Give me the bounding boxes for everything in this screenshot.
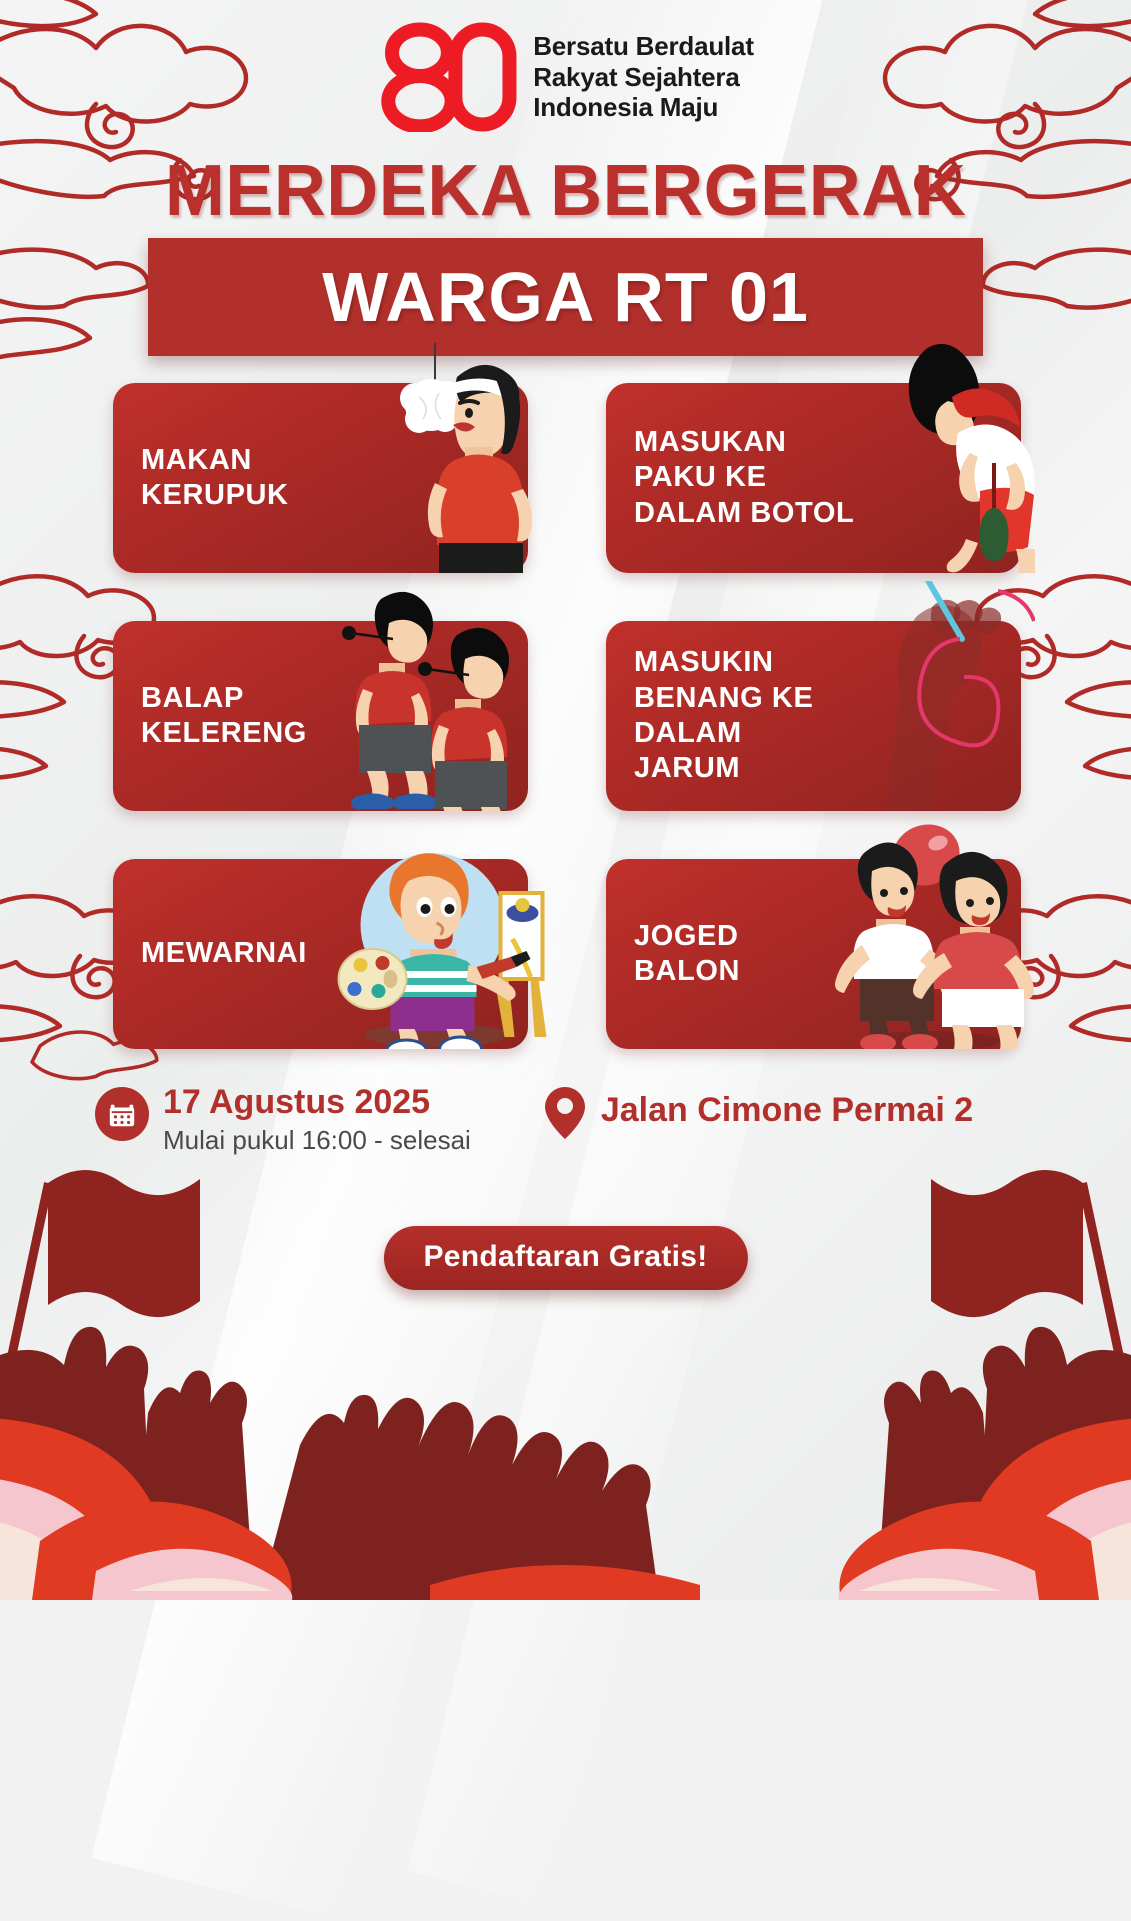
- hand-threading-needle-icon: [820, 581, 1035, 811]
- anniversary-logo-block: Bersatu Berdaulat Rakyat Sejahtera Indon…: [0, 22, 1131, 132]
- activity-card-balap-kelereng[interactable]: BALAP KELERENG: [113, 621, 528, 811]
- headline-banner: WARGA RT 01: [148, 238, 983, 356]
- event-location: Jalan Cimone Permai 2: [601, 1093, 973, 1129]
- activity-label-line: JOGED: [634, 919, 740, 954]
- two-kids-balloon-dance-icon: [820, 819, 1035, 1049]
- activity-label-line: MASUKAN: [634, 425, 854, 460]
- event-date: 17 Agustus 2025: [163, 1085, 471, 1121]
- activity-label: MEWARNAI: [113, 936, 307, 971]
- headline-primary: MERDEKA BERGERAK: [0, 150, 1131, 232]
- activity-label: JOGED BALON: [606, 919, 740, 990]
- activity-label-line: MAKAN: [141, 443, 289, 478]
- activity-label-line: PAKU KE: [634, 460, 854, 495]
- boys-marble-race-icon: [327, 581, 542, 811]
- activity-card-joged-balon[interactable]: JOGED BALON: [606, 859, 1021, 1049]
- poster-headline: MERDEKA BERGERAK WARGA RT 01: [0, 150, 1131, 356]
- activity-label-line: JARUM: [634, 751, 813, 786]
- headline-secondary: WARGA RT 01: [322, 257, 809, 337]
- activity-label: MASUKAN PAKU KE DALAM BOTOL: [606, 425, 854, 531]
- map-pin-icon: [543, 1085, 587, 1141]
- activity-card-masukin-benang[interactable]: MASUKIN BENANG KE DALAM JARUM: [606, 621, 1021, 811]
- activity-label-line: MASUKIN: [634, 645, 813, 680]
- activity-label-line: DALAM: [634, 716, 813, 751]
- activity-card-grid: MAKAN KERUPUK MASUKAN PAKU KE DALAM BOTO…: [113, 383, 1021, 1049]
- activity-label-line: BENANG KE: [634, 681, 813, 716]
- activity-label-line: BALAP: [141, 681, 307, 716]
- activity-label: MASUKIN BENANG KE DALAM JARUM: [606, 645, 813, 787]
- activity-card-masukan-paku[interactable]: MASUKAN PAKU KE DALAM BOTOL: [606, 383, 1021, 573]
- activity-label-line: BALON: [634, 954, 740, 989]
- logo-tagline-line-1: Bersatu Berdaulat: [533, 31, 754, 61]
- logo-tagline-line-2: Rakyat Sejahtera: [533, 62, 754, 92]
- activity-label-line: KELERENG: [141, 716, 307, 751]
- boy-painting-icon: [302, 819, 562, 1049]
- activity-card-mewarnai[interactable]: MEWARNAI: [113, 859, 528, 1049]
- logo-tagline-line-3: Indonesia Maju: [533, 92, 754, 122]
- logo-80-icon: [377, 22, 517, 132]
- activity-label: BALAP KELERENG: [113, 681, 307, 752]
- registration-cta-button[interactable]: Pendaftaran Gratis!: [383, 1226, 747, 1290]
- calendar-icon: [95, 1087, 149, 1141]
- activity-label-line: KERUPUK: [141, 478, 289, 513]
- logo-tagline: Bersatu Berdaulat Rakyat Sejahtera Indon…: [533, 31, 754, 122]
- activity-label-line: DALAM BOTOL: [634, 496, 854, 531]
- activity-card-makan-kerupuk[interactable]: MAKAN KERUPUK: [113, 383, 528, 573]
- event-info-row: 17 Agustus 2025 Mulai pukul 16:00 - sele…: [95, 1085, 1045, 1156]
- event-date-block: 17 Agustus 2025 Mulai pukul 16:00 - sele…: [95, 1085, 471, 1156]
- event-location-block: Jalan Cimone Permai 2: [543, 1085, 973, 1141]
- event-time: Mulai pukul 16:00 - selesai: [163, 1124, 471, 1157]
- activity-label-line: MEWARNAI: [141, 936, 307, 971]
- activity-label: MAKAN KERUPUK: [113, 443, 289, 514]
